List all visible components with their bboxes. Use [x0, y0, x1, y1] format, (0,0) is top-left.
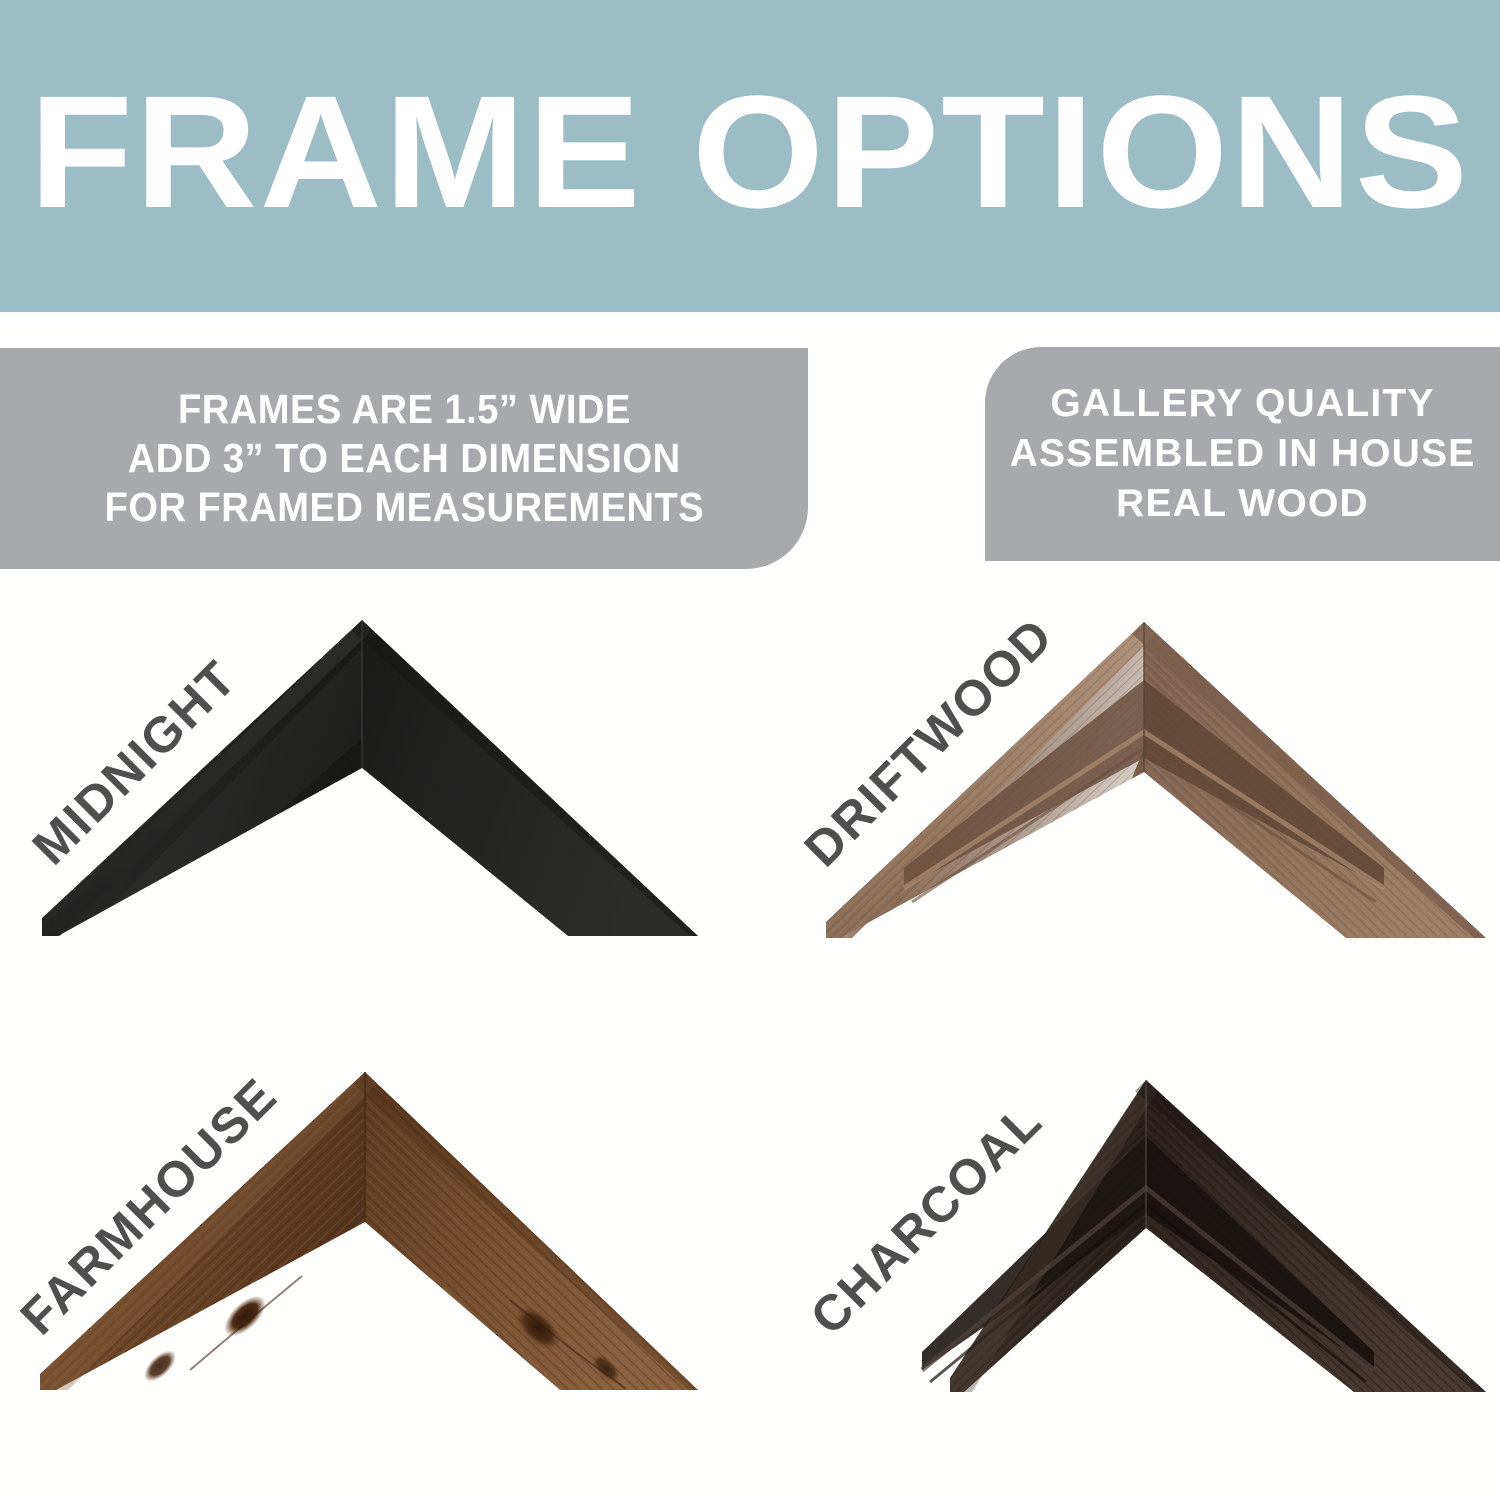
info-box-measurements: FRAMES ARE 1.5” WIDE ADD 3” TO EACH DIME…	[0, 348, 808, 569]
frame-sample-charcoal[interactable]: CHARCOAL	[826, 1078, 1488, 1393]
info-right-line-1: GALLERY QUALITY	[1050, 379, 1434, 429]
frame-sample-driftwood[interactable]: DRIFTWOOD	[826, 620, 1488, 940]
header-band: FRAME OPTIONS	[0, 0, 1500, 312]
info-box-quality: GALLERY QUALITY ASSEMBLED IN HOUSE REAL …	[985, 347, 1500, 561]
frame-sample-midnight[interactable]: MIDNIGHT	[40, 618, 700, 938]
frame-options-infographic: FRAME OPTIONS FRAMES ARE 1.5” WIDE ADD 3…	[0, 0, 1500, 1500]
info-left-line-1: FRAMES ARE 1.5” WIDE	[178, 385, 631, 434]
info-right-line-2: ASSEMBLED IN HOUSE	[1010, 429, 1476, 479]
page-title: FRAME OPTIONS	[30, 72, 1471, 240]
frame-sample-farmhouse[interactable]: FARMHOUSE	[40, 1070, 700, 1392]
info-right-line-3: REAL WOOD	[1116, 479, 1369, 529]
info-left-line-2: ADD 3” TO EACH DIMENSION	[128, 434, 681, 483]
info-left-line-3: FOR FRAMED MEASUREMENTS	[104, 483, 704, 532]
